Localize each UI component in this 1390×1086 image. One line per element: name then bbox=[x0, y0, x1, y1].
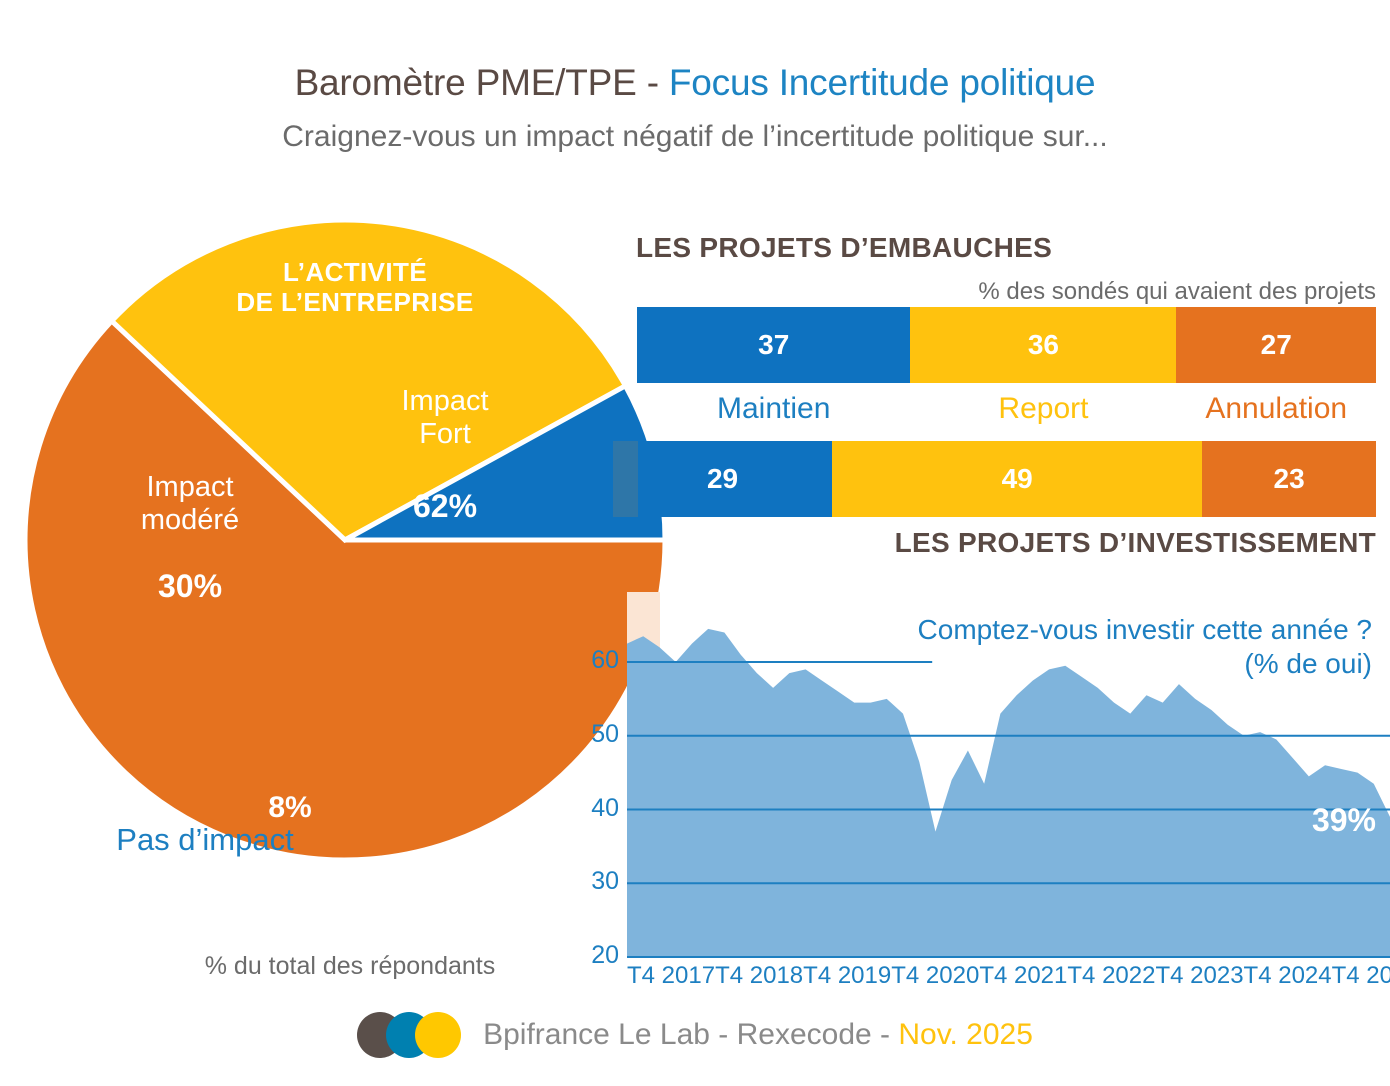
embauches-section-title: LES PROJETS D’EMBAUCHES bbox=[636, 232, 1052, 264]
pie-sector-title: L’ACTIVITÉ DE L’ENTREPRISE bbox=[180, 258, 530, 318]
investissement-section-title: LES PROJETS D’INVESTISSEMENT bbox=[895, 527, 1376, 559]
embauches-stacked-bar-top: 373627 bbox=[637, 307, 1376, 383]
investissement-question-l1: Comptez-vous investir cette année ? bbox=[918, 614, 1372, 645]
pie-value-impact-modere: 30% bbox=[80, 568, 300, 605]
investissement-x-axis: T4 2017T4 2018T4 2019T4 2020T4 2021T4 20… bbox=[627, 962, 1383, 990]
embauches-legend-report: Report bbox=[910, 392, 1176, 426]
pie-label-impact-modere-l1: Impact bbox=[146, 471, 233, 503]
embauches-legend: MaintienReportAnnulation bbox=[637, 392, 1376, 426]
embauches-segment-annulation: 23 bbox=[1202, 441, 1376, 517]
investissement-question-l2: (% de oui) bbox=[1244, 648, 1372, 679]
x-tick-t4-2022: T4 2022 bbox=[1067, 962, 1155, 990]
y-tick-60: 60 bbox=[573, 646, 619, 675]
embauches-bar-bottom-overlay bbox=[613, 441, 638, 517]
y-tick-40: 40 bbox=[573, 794, 619, 823]
embauches-segment-annulation: 27 bbox=[1176, 307, 1376, 383]
page-title: Baromètre PME/TPE - Focus Incertitude po… bbox=[0, 62, 1390, 104]
infographic-canvas: Baromètre PME/TPE - Focus Incertitude po… bbox=[0, 0, 1390, 1086]
footer-text: Bpifrance Le Lab - Rexecode - Nov. 2025 bbox=[483, 1018, 1033, 1052]
logo-dot-yellow bbox=[415, 1012, 461, 1058]
investissement-last-value: 39% bbox=[1312, 802, 1376, 839]
pie-label-impact-modere: Impact modéré bbox=[80, 471, 300, 538]
page-title-main: Baromètre PME/TPE - bbox=[295, 62, 669, 103]
footer-text-main: Bpifrance Le Lab - Rexecode - bbox=[483, 1018, 898, 1051]
embauches-segment-maintien: 29 bbox=[613, 441, 832, 517]
pie-value-impact-fort: 62% bbox=[330, 488, 560, 525]
embauches-legend-maintien: Maintien bbox=[637, 392, 910, 426]
pie-chart: L’ACTIVITÉ DE L’ENTREPRISE Impact Fort 6… bbox=[20, 213, 680, 873]
y-tick-30: 30 bbox=[573, 867, 619, 896]
bpifrance-logo-icon bbox=[357, 1012, 461, 1058]
embauches-legend-annulation: Annulation bbox=[1176, 392, 1376, 426]
page-subtitle: Craignez-vous un impact négatif de l’inc… bbox=[0, 120, 1390, 154]
x-tick-t4-2021: T4 2021 bbox=[979, 962, 1067, 990]
pie-label-impact-fort: Impact Fort bbox=[330, 385, 560, 452]
x-tick-t4-2019: T4 2019 bbox=[803, 962, 891, 990]
embauches-stacked-bar-bottom: 294923 bbox=[613, 441, 1376, 517]
pie-sector-title-line1: L’ACTIVITÉ bbox=[283, 257, 427, 287]
footer: Bpifrance Le Lab - Rexecode - Nov. 2025 bbox=[0, 1012, 1390, 1058]
pie-sector-title-line2: DE L’ENTREPRISE bbox=[236, 287, 473, 317]
investissement-question: Comptez-vous investir cette année ? (% d… bbox=[852, 613, 1372, 681]
pie-label-impact-modere-l2: modéré bbox=[141, 504, 239, 536]
embauches-segment-report: 49 bbox=[832, 441, 1202, 517]
page-title-accent: Focus Incertitude politique bbox=[669, 62, 1096, 103]
x-tick-t4-2023: T4 2023 bbox=[1155, 962, 1243, 990]
embauches-note: % des sondés qui avaient des projets bbox=[978, 278, 1376, 306]
pie-label-impact-fort-l1: Impact bbox=[401, 385, 488, 417]
x-tick-t4-2018: T4 2018 bbox=[715, 962, 803, 990]
y-tick-50: 50 bbox=[573, 720, 619, 749]
y-tick-20: 20 bbox=[573, 941, 619, 970]
pie-label-pas-dimpact: Pas d’impact bbox=[60, 822, 350, 858]
x-tick-t4-2025: T4 2025 bbox=[1332, 962, 1390, 990]
x-tick-t4-2024: T4 2024 bbox=[1244, 962, 1332, 990]
pie-footnote: % du total des répondants bbox=[90, 952, 610, 981]
embauches-segment-maintien: 37 bbox=[637, 307, 910, 383]
x-tick-t4-2020: T4 2020 bbox=[891, 962, 979, 990]
footer-date: Nov. 2025 bbox=[898, 1018, 1033, 1051]
embauches-segment-report: 36 bbox=[910, 307, 1176, 383]
pie-value-pas-dimpact: 8% bbox=[220, 791, 360, 826]
x-tick-t4-2017: T4 2017 bbox=[627, 962, 715, 990]
pie-label-impact-fort-l2: Fort bbox=[419, 418, 471, 450]
